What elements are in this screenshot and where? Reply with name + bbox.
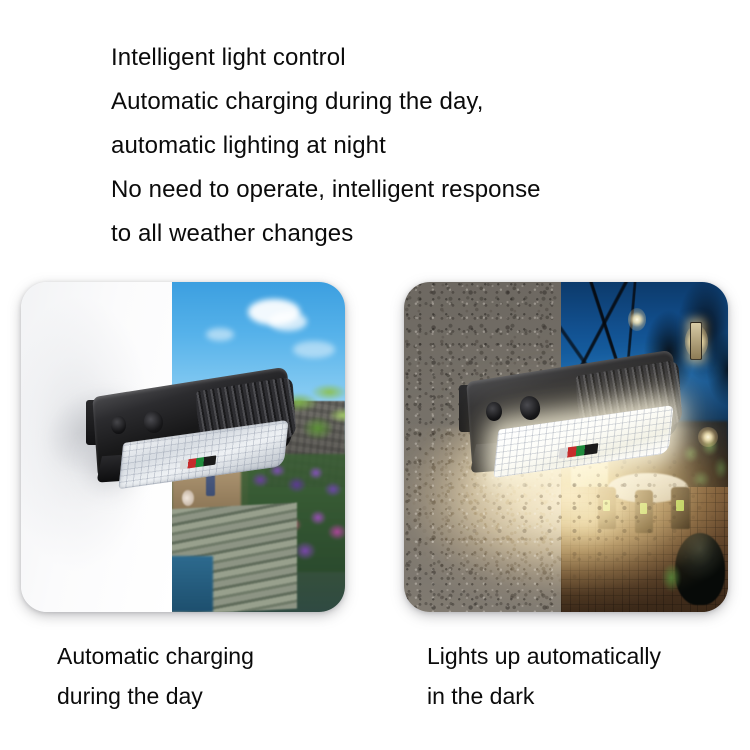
day-garden-scene: [172, 282, 345, 612]
pond-water: [172, 556, 214, 612]
day-white-wall: [21, 282, 172, 612]
day-caption-line-2: during the day: [57, 676, 254, 716]
palm-foliage: [276, 368, 345, 454]
day-photo: [21, 282, 345, 612]
lantern-icon: [690, 322, 702, 360]
day-caption-line-1: Automatic charging: [57, 636, 254, 676]
headline-line-1: Intelligent light control: [111, 36, 711, 80]
night-panel-caption: Lights up automatically in the dark: [427, 636, 661, 716]
headline-line-4: No need to operate, intelligent response: [111, 168, 711, 212]
day-panel-caption: Automatic charging during the day: [57, 636, 254, 716]
day-panel: [21, 282, 345, 612]
cloud-icon: [206, 328, 234, 341]
headline-line-2: Automatic charging during the day,: [111, 80, 711, 124]
headline-block: Intelligent light control Automatic char…: [111, 36, 711, 256]
cloud-icon: [293, 341, 335, 358]
caption-row: Automatic charging during the day Lights…: [0, 636, 750, 736]
lit-stone-speckle: [404, 427, 728, 612]
night-caption-line-2: in the dark: [427, 676, 661, 716]
night-caption-line-1: Lights up automatically: [427, 636, 661, 676]
night-photo: [404, 282, 728, 612]
headline-line-5: to all weather changes: [111, 212, 711, 256]
lamp-shadow-secondary: [63, 418, 157, 523]
night-panel: [404, 282, 728, 612]
headline-line-3: automatic lighting at night: [111, 124, 711, 168]
person-figure: [206, 440, 215, 496]
panel-row: [0, 282, 750, 622]
cloud-icon: [269, 312, 307, 332]
